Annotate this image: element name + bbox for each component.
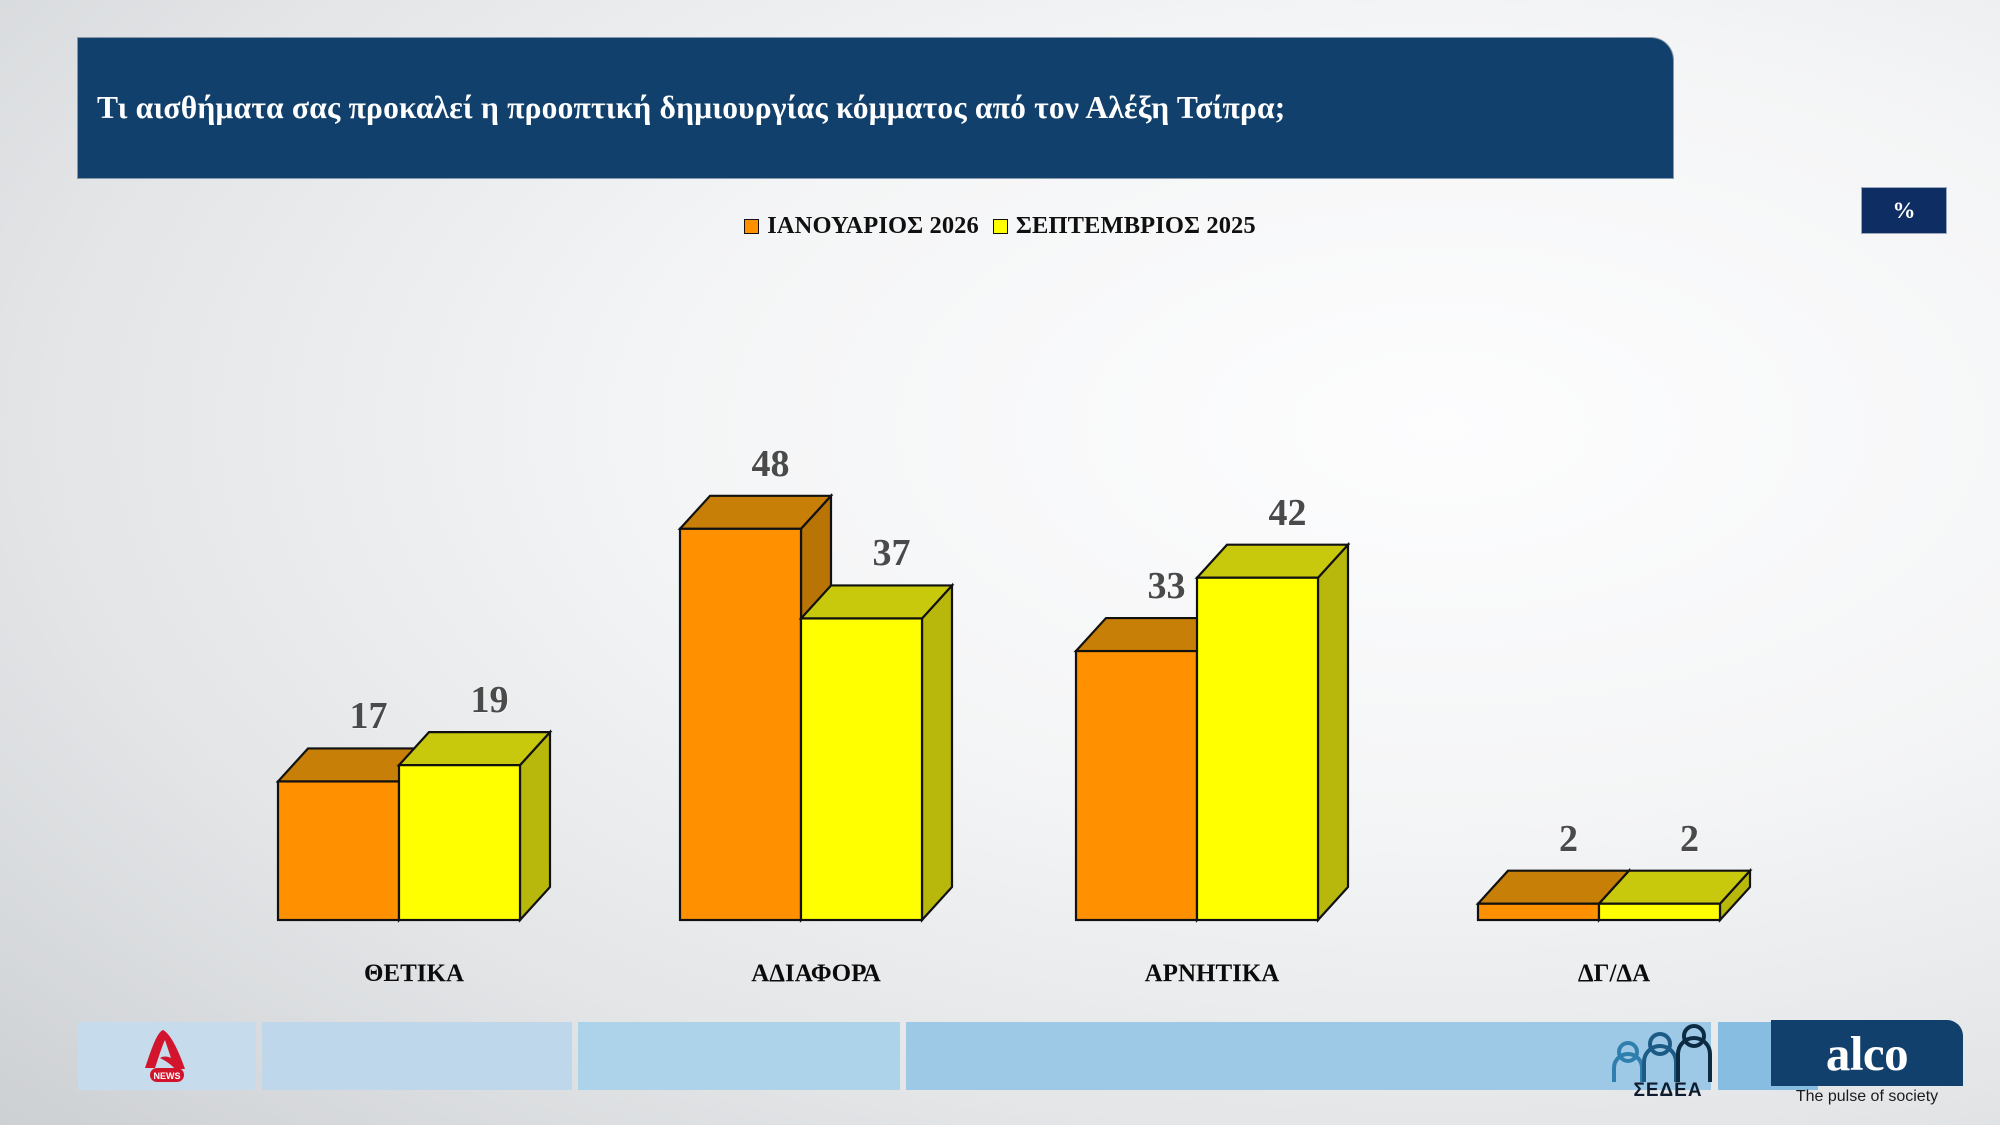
bar-3-series-1 [1076,618,1227,920]
value-label-2-series-1: 48 [752,442,790,486]
footer-bar: NEWS ΣΕΔΕΑ alco The pulse of society [78,1022,1983,1110]
title-banner: Τι αισθήματα σας προκαλεί η προοπτική δη… [78,38,1673,178]
alco-tagline: The pulse of society [1771,1088,1963,1106]
category-label-layer: ΘΕΤΙΚΑΑΔΙΑΦΟΡΑΑΡΝΗΤΙΚΑΔΓ/ΔΑ [140,960,1800,1000]
value-label-2-series-2: 37 [873,531,911,575]
category-label-4: ΔΓ/ΔΑ [1578,960,1650,988]
bar-3-series-2 [1197,545,1348,920]
legend-label-series-1: ΙΑΝΟΥΑΡΙΟΣ 2026 [767,212,979,240]
value-label-1-series-1: 17 [350,694,388,738]
value-label-1-series-2: 19 [471,678,509,722]
alco-logo-box: alco [1771,1020,1963,1086]
footer-panel-3 [578,1022,900,1090]
value-label-4-series-2: 2 [1680,817,1699,861]
bar-1-series-1 [278,748,429,920]
chart-legend: ΙΑΝΟΥΑΡΙΟΣ 2026 ΣΕΠΤΕΜΒΡΙΟΣ 2025 [0,212,2000,240]
bar-4-series-2 [1599,871,1750,920]
category-label-2: ΑΔΙΑΦΟΡΑ [751,960,881,988]
bar-2-series-2 [801,585,952,920]
legend-label-series-2: ΣΕΠΤΕΜΒΡΙΟΣ 2025 [1016,212,1256,240]
alco-label: alco [1826,1029,1908,1078]
bar-1-series-2 [399,732,550,920]
svg-text:NEWS: NEWS [154,1071,181,1081]
value-label-3-series-1: 33 [1148,564,1186,608]
alpha-news-logo-icon: NEWS [133,1028,199,1086]
legend-swatch-icon-series-2 [993,219,1008,234]
legend-swatch-icon-series-1 [744,219,759,234]
category-label-1: ΘΕΤΙΚΑ [364,960,464,988]
footer-panel-2 [262,1022,572,1090]
value-label-3-series-2: 42 [1269,491,1307,535]
page-title: Τι αισθήματα σας προκαλεί η προοπτική δη… [78,89,1285,127]
category-label-3: ΑΡΝΗΤΙΚΑ [1145,960,1280,988]
footer-panel-4 [906,1022,1711,1090]
legend-item-series-1[interactable]: ΙΑΝΟΥΑΡΙΟΣ 2026 [744,212,979,240]
sedea-label: ΣΕΔΕΑ [1598,1080,1738,1102]
value-label-4-series-1: 2 [1559,817,1578,861]
bar-4-series-1 [1478,871,1629,920]
legend-item-series-2[interactable]: ΣΕΠΤΕΜΒΡΙΟΣ 2025 [993,212,1256,240]
bar-2-series-1 [680,496,831,920]
